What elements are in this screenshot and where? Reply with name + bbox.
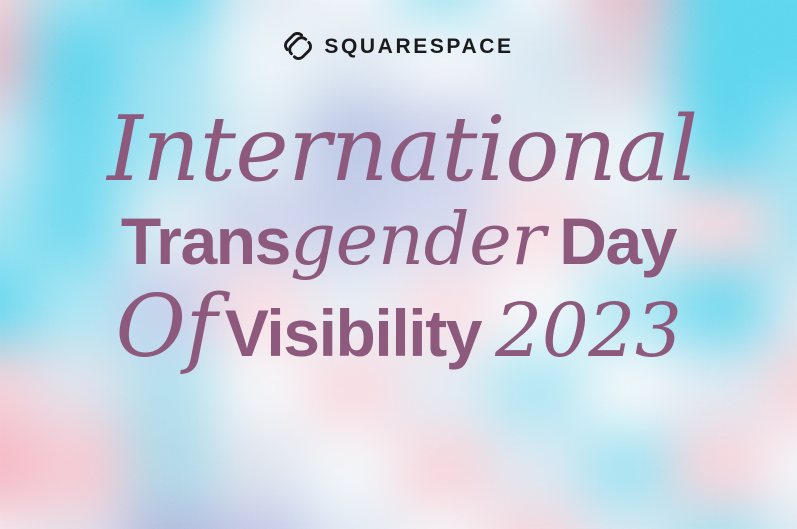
background-cell — [215, 0, 307, 21]
background-cell — [215, 508, 307, 529]
headline-word-gender: gender — [290, 197, 545, 281]
headline-line-3: OfVisibility2023 — [0, 283, 797, 377]
headline-word-of: Of — [116, 277, 217, 377]
background-cell — [582, 508, 674, 529]
background-cell — [490, 427, 582, 508]
background-cell — [674, 508, 766, 529]
headline-word-day: Day — [559, 204, 676, 278]
background-cell — [490, 508, 582, 529]
headline-line-2: TransgenderDay — [0, 197, 797, 283]
background-cell — [674, 0, 766, 21]
background-cell — [0, 427, 32, 508]
background-cell — [123, 427, 215, 508]
background-cell — [582, 0, 674, 21]
background-cell — [398, 0, 490, 21]
background-cell — [765, 427, 797, 508]
headline-block: International TransgenderDay OfVisibilit… — [0, 104, 797, 377]
background-cell — [123, 508, 215, 529]
background-cell — [765, 0, 797, 21]
background-cell — [398, 508, 490, 529]
background-cell — [0, 0, 32, 21]
background-cell — [398, 427, 490, 508]
squarespace-logo: SQUARESPACE — [0, 31, 797, 61]
background-cell — [307, 427, 399, 508]
headline-line-1: International — [8, 104, 797, 197]
squarespace-wordmark: SQUARESPACE — [324, 36, 513, 57]
background-cell — [32, 508, 124, 529]
background-cell — [32, 427, 124, 508]
background-cell — [765, 508, 797, 529]
background-cell — [0, 508, 32, 529]
headline-word-visibility: Visibility — [225, 296, 481, 370]
background-cell — [32, 0, 124, 21]
background-cell — [307, 508, 399, 529]
background-cell — [123, 0, 215, 21]
background-cell — [674, 427, 766, 508]
background-cell — [490, 0, 582, 21]
headline-word-international: International — [107, 97, 698, 202]
background-cell — [215, 427, 307, 508]
headline-word-trans: Trans — [121, 204, 290, 278]
headline-year-2023: 2023 — [495, 288, 681, 374]
poster-canvas: SQUARESPACE International TransgenderDay… — [0, 0, 797, 529]
background-cell — [582, 427, 674, 508]
squarespace-logo-icon — [283, 31, 313, 61]
background-cell — [307, 0, 399, 21]
